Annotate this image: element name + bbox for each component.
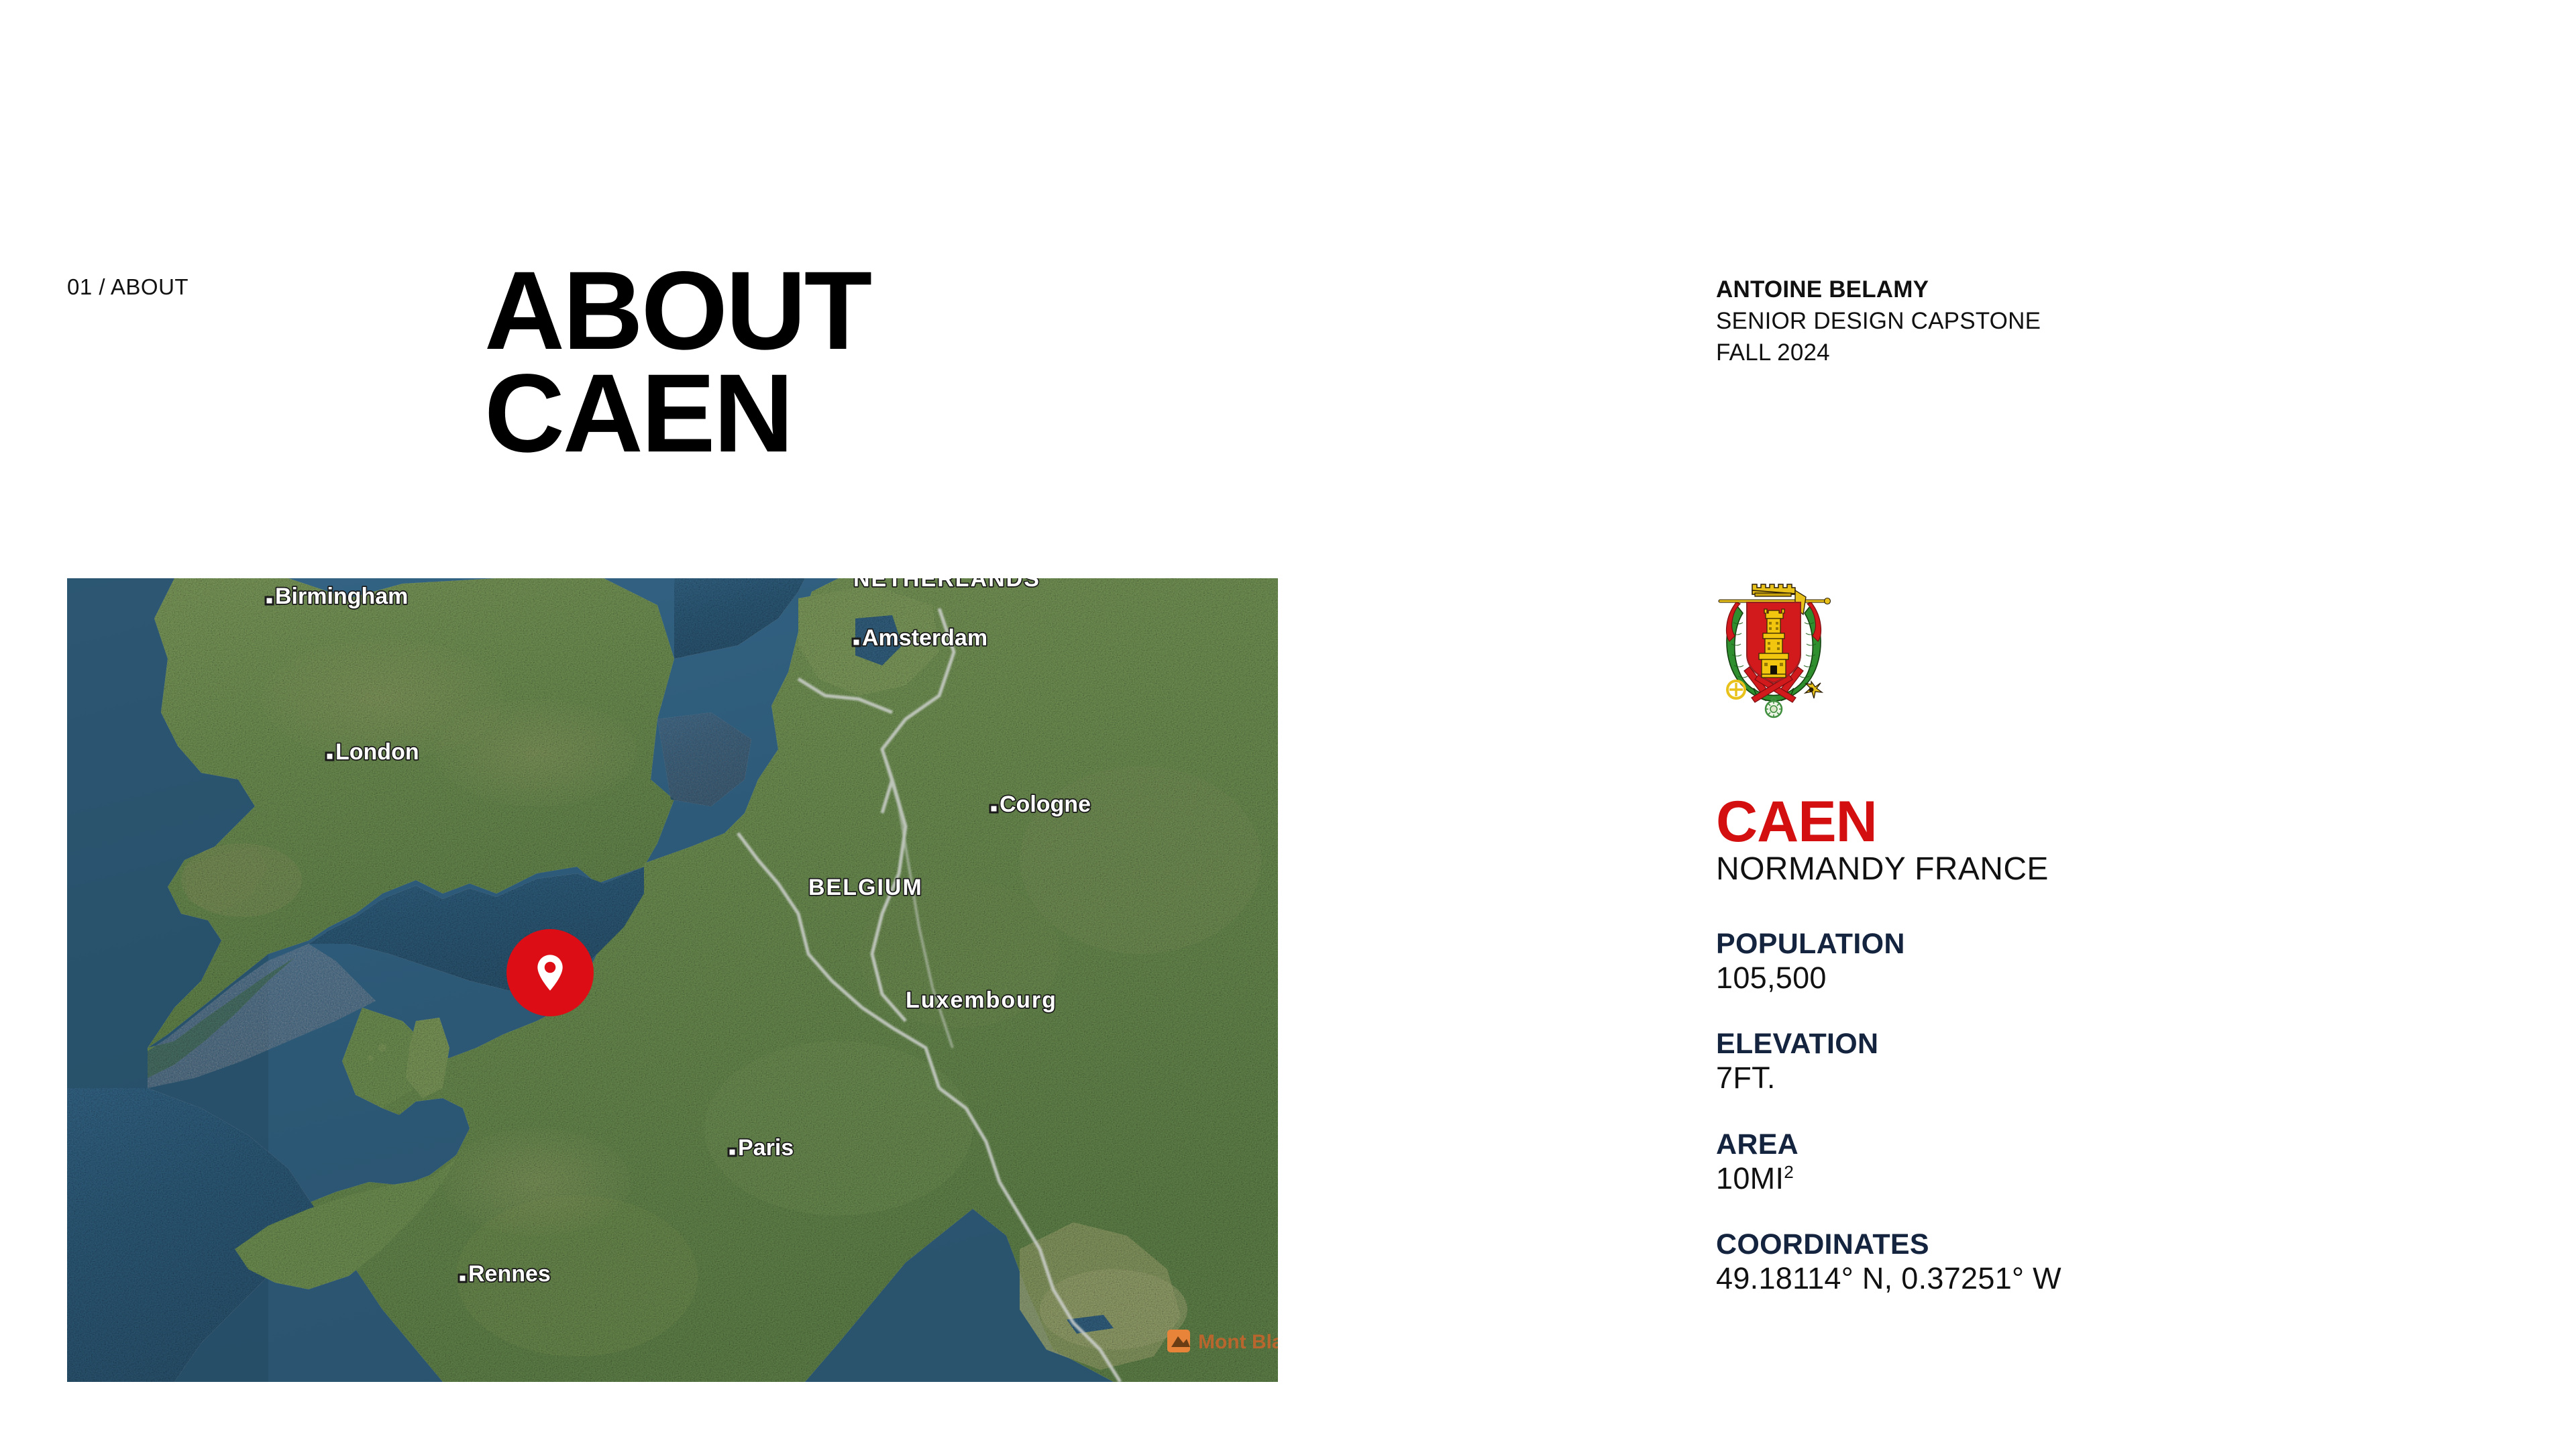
map-city-dot (326, 753, 333, 760)
map-city-dot (266, 597, 273, 604)
city-info-panel: CAEN NORMANDY FRANCE POPULATION105,500EL… (1716, 795, 2226, 1296)
map-city-dot (459, 1275, 466, 1282)
map-city-label: Rennes (468, 1261, 551, 1287)
city-name: CAEN (1716, 795, 2226, 850)
map-location-pin[interactable] (506, 929, 594, 1016)
page-title-line-2: CAEN (484, 363, 870, 466)
city-stat-value: 49.18114° N, 0.37251° W (1716, 1260, 2226, 1296)
page-title: ABOUT CAEN (484, 260, 870, 465)
svg-text:Mont Blanc: Mont Blanc (1198, 1331, 1278, 1353)
credits-course: SENIOR DESIGN CAPSTONE (1716, 306, 2041, 337)
section-tag: 01 / ABOUT (67, 274, 189, 300)
map-city-label: Paris (738, 1135, 794, 1161)
credits-author: ANTOINE BELAMY (1716, 274, 2041, 306)
city-stat-value: 7FT. (1716, 1060, 2226, 1095)
city-stat: COORDINATES49.18114° N, 0.37251° W (1716, 1228, 2226, 1296)
city-region: NORMANDY FRANCE (1716, 853, 2226, 886)
map-image: BirminghamLondonAmsterdamCologneParisRen… (67, 578, 1278, 1382)
map-city-dot (729, 1148, 736, 1156)
map-city-label: Amsterdam (862, 625, 987, 651)
coat-of-arms-caen (1713, 576, 1834, 720)
city-stat-label: COORDINATES (1716, 1228, 2226, 1260)
map-city-label: Birmingham (275, 584, 408, 609)
map-country-label: BELGIUM (808, 875, 923, 900)
city-stat-label: POPULATION (1716, 928, 2226, 960)
city-stats-list: POPULATION105,500ELEVATION7FT.AREA10MI2C… (1716, 928, 2226, 1296)
map-city-label: Cologne (1000, 792, 1091, 817)
coat-of-arms-icon (1713, 576, 1834, 720)
city-stat: POPULATION105,500 (1716, 928, 2226, 996)
map-country-label: NETHERLANDS (853, 578, 1040, 592)
page-title-line-1: ABOUT (484, 260, 870, 363)
medal-left (1727, 681, 1745, 698)
credits-term: FALL 2024 (1716, 337, 2041, 369)
city-stat-value: 10MI2 (1716, 1161, 2226, 1196)
map-attribution: Mont Blanc (1167, 1330, 1278, 1353)
credits-block: ANTOINE BELAMY SENIOR DESIGN CAPSTONE FA… (1716, 274, 2041, 369)
city-stat-value: 105,500 (1716, 960, 2226, 996)
city-stat-label: ELEVATION (1716, 1028, 2226, 1060)
city-stat: AREA10MI2 (1716, 1128, 2226, 1196)
slide-about-caen: 01 / ABOUT ABOUT CAEN ANTOINE BELAMY SEN… (0, 0, 2576, 1449)
city-stat-label: AREA (1716, 1128, 2226, 1161)
map-city-dot (990, 805, 998, 812)
map-country-label: Luxembourg (906, 987, 1057, 1013)
mural-crown-icon (1752, 584, 1795, 596)
satellite-map[interactable]: BirminghamLondonAmsterdamCologneParisRen… (67, 578, 1278, 1382)
map-city-dot (853, 639, 860, 646)
map-city-label: London (335, 739, 419, 765)
location-pin-icon (529, 951, 572, 994)
city-stat: ELEVATION7FT. (1716, 1028, 2226, 1095)
medal-right (1805, 682, 1822, 698)
